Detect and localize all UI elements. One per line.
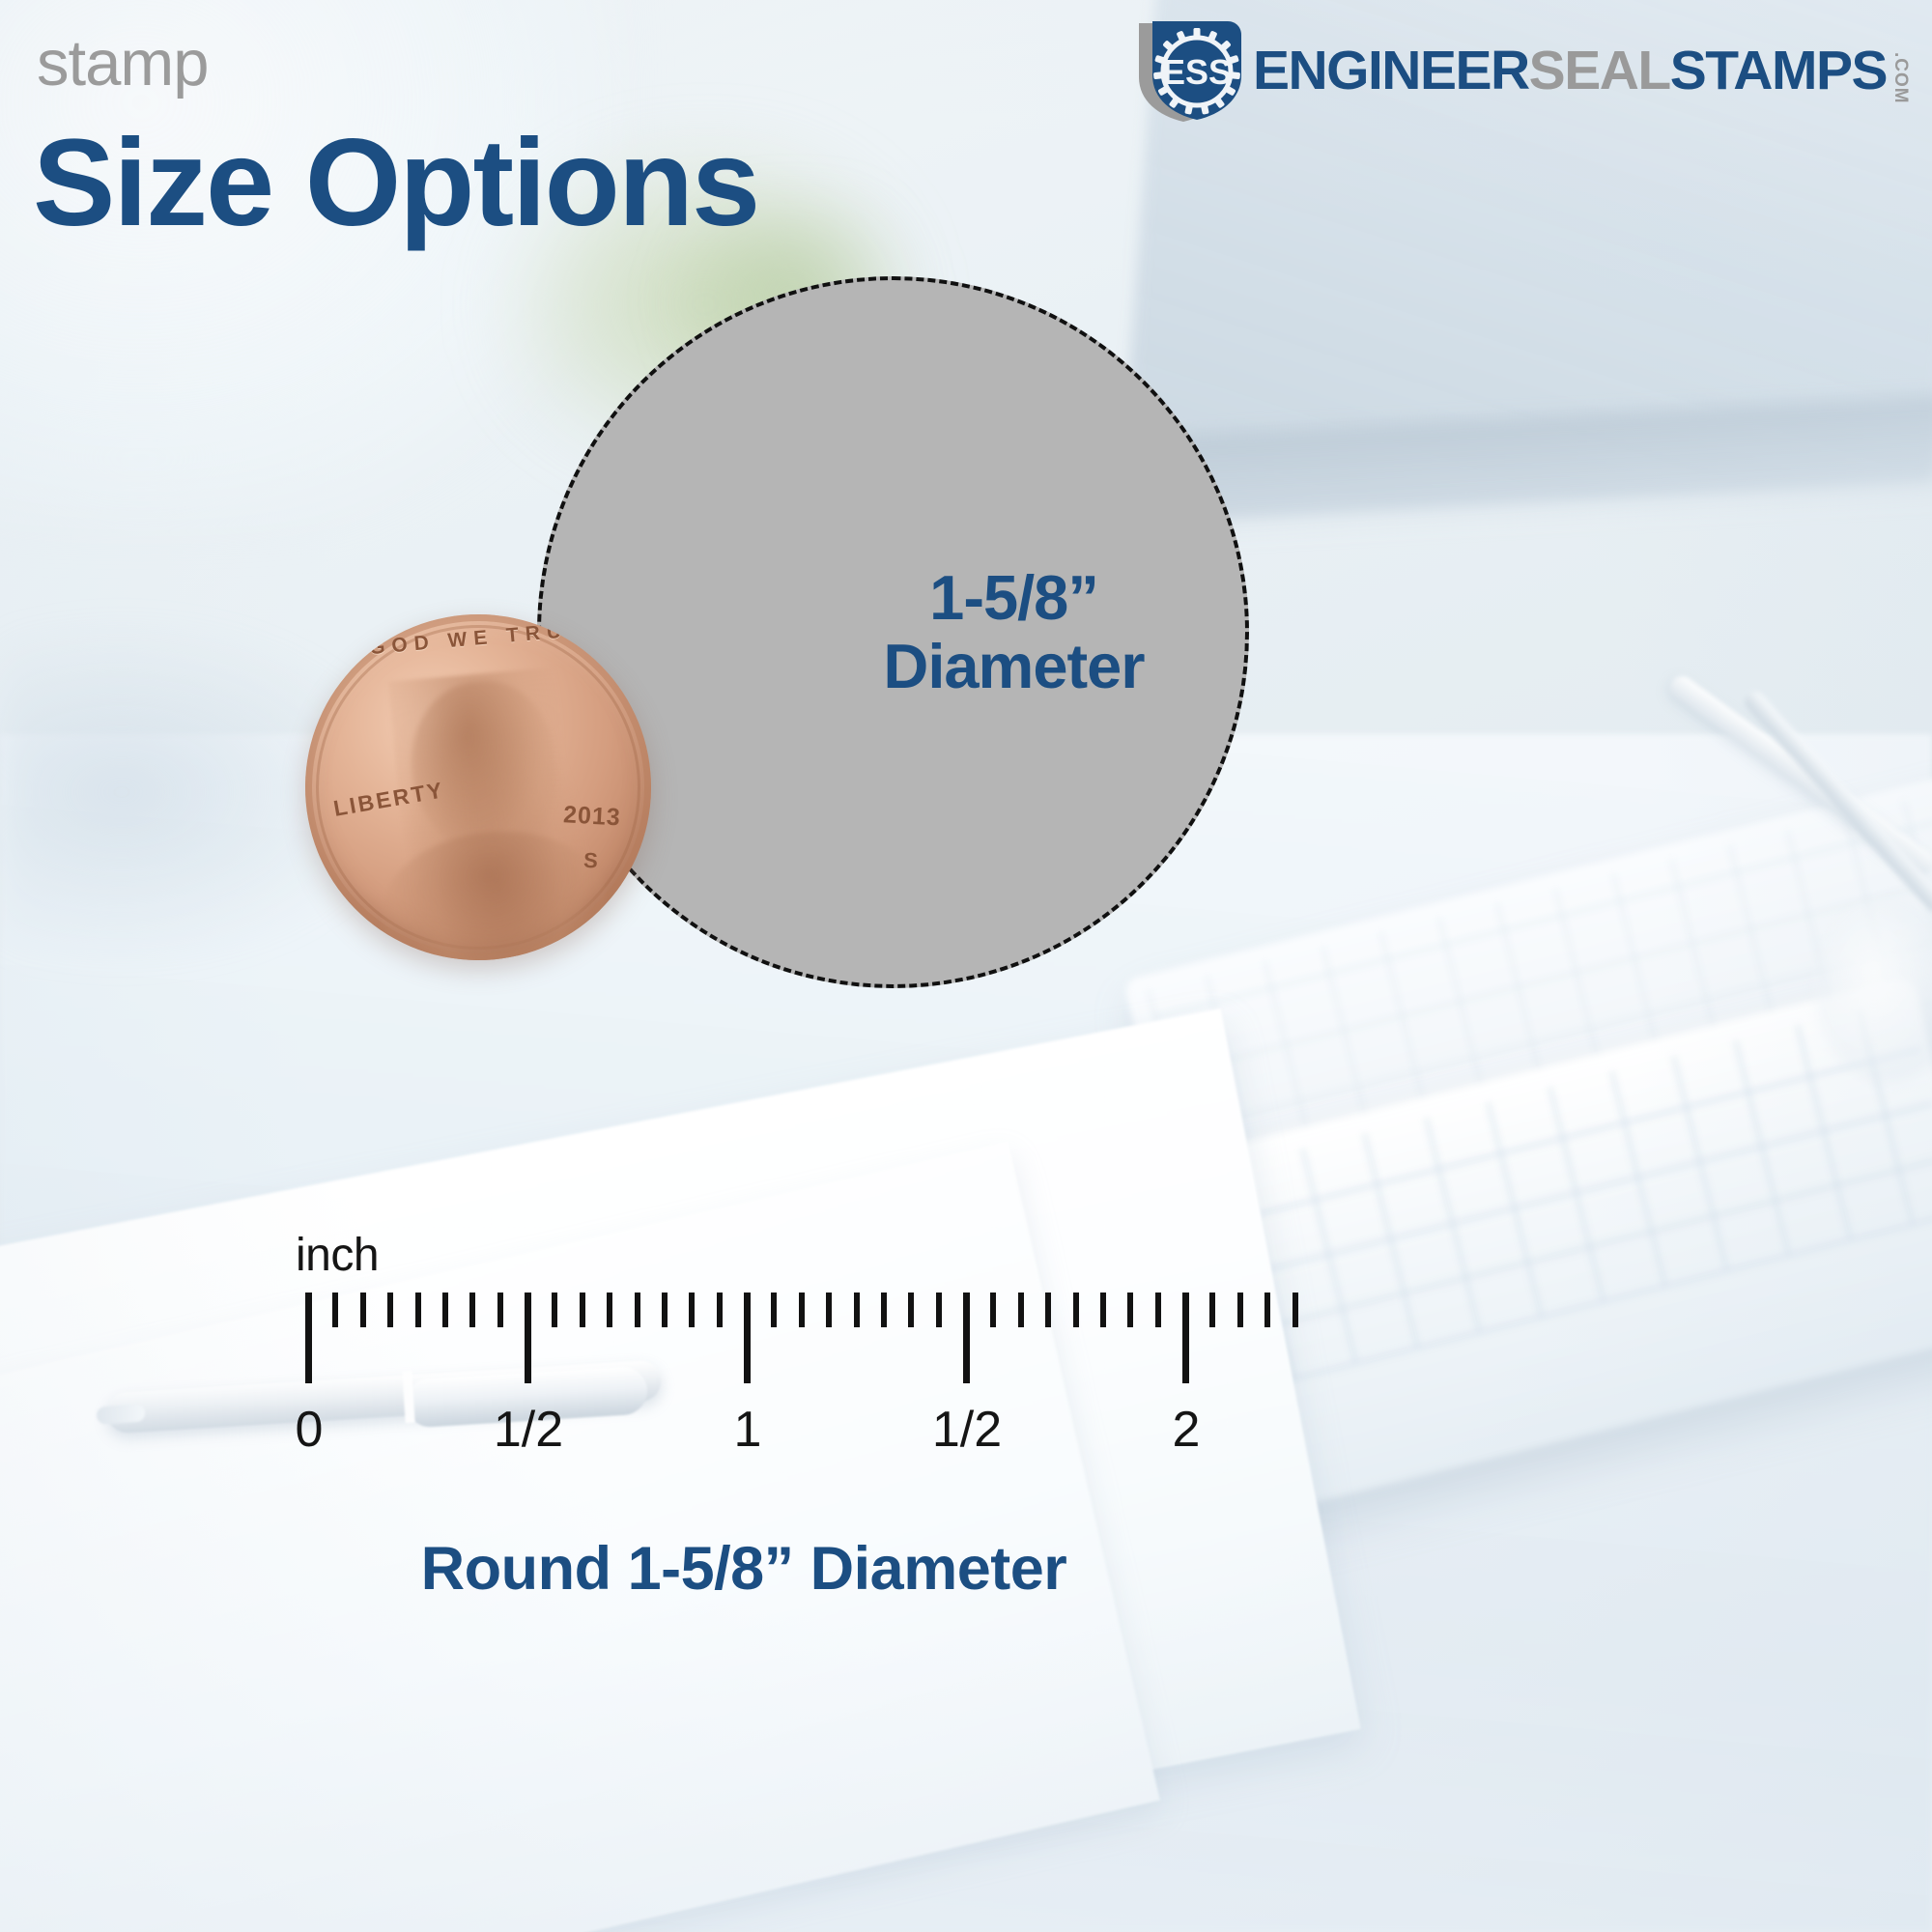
- penny-mint-mark-text: S: [583, 848, 599, 874]
- stamp-size-preview-circle: 1-5/8” Diameter: [537, 276, 1249, 988]
- size-circle-dimension-unit: Diameter: [883, 633, 1144, 700]
- logo-domain-suffix: .COM: [1889, 52, 1911, 104]
- logo-wordmark: ENGINEER SEAL STAMPS .COM: [1253, 39, 1911, 104]
- logo-word-seal: SEAL: [1529, 43, 1670, 99]
- page-title: Size Options: [33, 122, 758, 245]
- logo-word-engineer: ENGINEER: [1253, 43, 1529, 99]
- size-caption: Round 1-5/8” Diameter: [0, 1534, 1488, 1604]
- logo-word-stamps: STAMPS: [1670, 43, 1887, 99]
- penny-year-text: 2013: [563, 801, 622, 832]
- ess-shield-gear-icon: ESS: [1125, 17, 1245, 126]
- size-circle-dimension: 1-5/8”: [883, 564, 1144, 632]
- company-logo[interactable]: ESS ENGINEER SEAL STAMPS .COM: [1125, 17, 1911, 126]
- ess-shield-abbr-text: ESS: [1162, 52, 1232, 92]
- size-circle-label-group: 1-5/8” Diameter: [883, 564, 1144, 699]
- brand-word: stamp: [37, 31, 208, 96]
